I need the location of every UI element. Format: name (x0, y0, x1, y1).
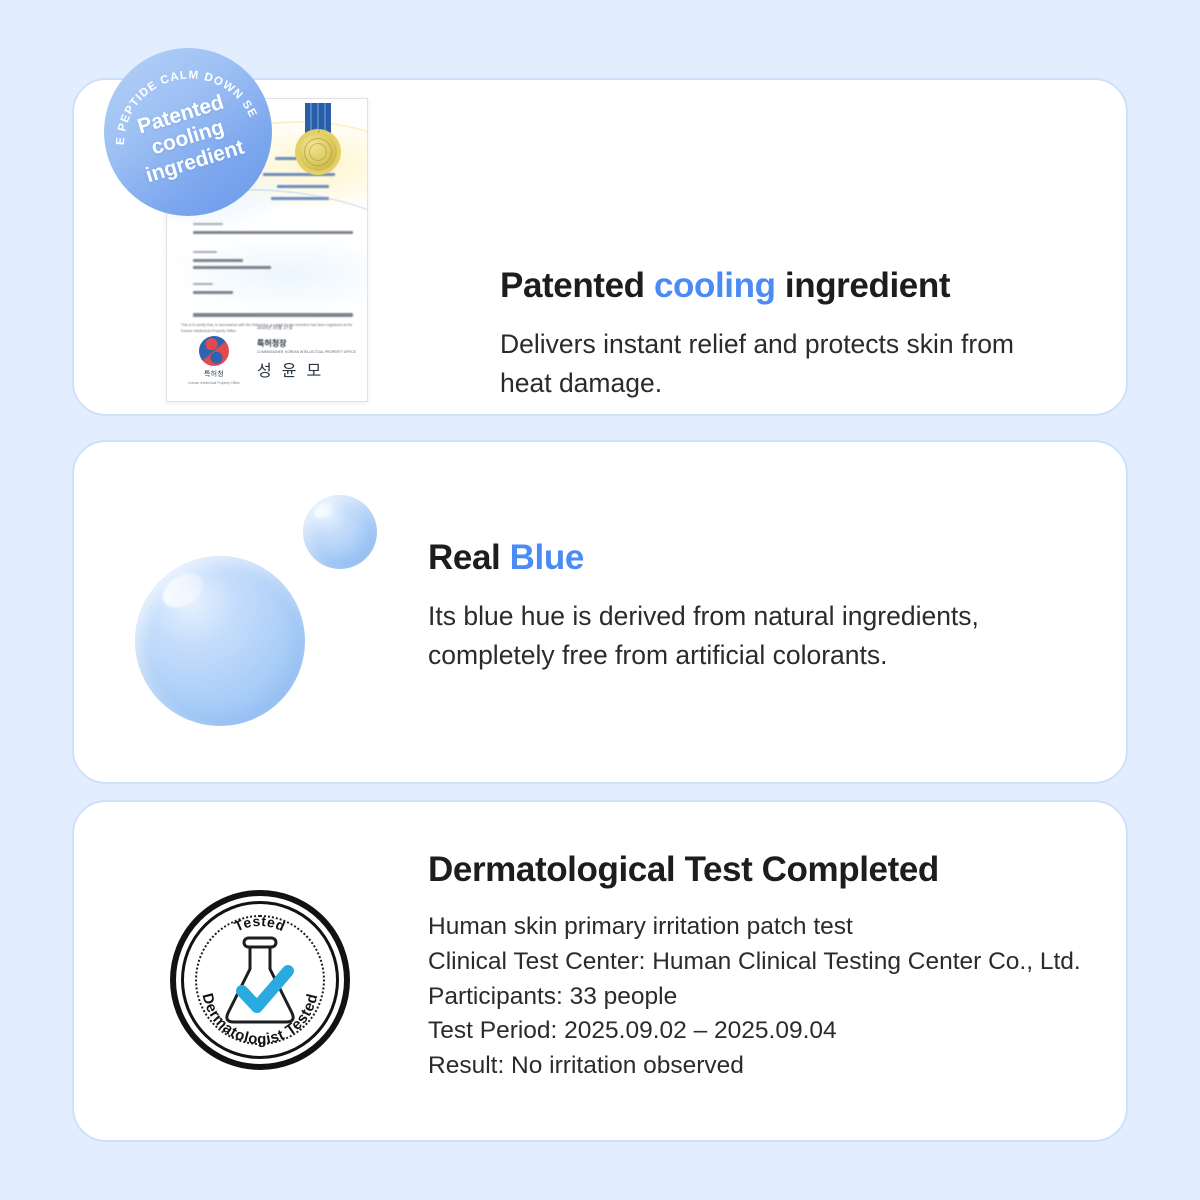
card-2-subcopy: Its blue hue is derived from natural ing… (428, 597, 1078, 675)
headline-text-before: Patented (500, 266, 654, 305)
headline-text-before: Real (428, 538, 510, 577)
test-detail-list: Human skin primary irritation patch test… (428, 910, 1081, 1084)
card-3-headline: Dermatological Test Completed (428, 850, 1081, 890)
kipo-name-ko: 특허청 (183, 369, 245, 379)
certificate-date: 2025년 10월 27일 (257, 325, 359, 331)
dermatologist-tested-stamp: Tested Dermatologist Tested (170, 890, 350, 1070)
flask-icon (218, 935, 302, 1027)
commissioner-title-ko: 특허청장 (257, 338, 359, 349)
card-3-copy: Dermatological Test Completed Human skin… (428, 850, 1081, 1084)
product-detail-page: This is to certify that, in accordance w… (0, 0, 1200, 1200)
blue-droplet-small (303, 495, 377, 569)
gold-medal-seal-icon (295, 129, 341, 175)
headline-text-highlight: cooling (654, 266, 776, 305)
card-1-subcopy: Delivers instant relief and protects ski… (500, 325, 1030, 403)
stamp-arc-top-text: Tested (232, 913, 288, 935)
headline-text-highlight: Blue (510, 538, 584, 577)
svg-text:Tested: Tested (232, 913, 288, 935)
test-detail-item: Test Period: 2025.09.02 – 2025.09.04 (428, 1014, 1081, 1049)
patented-cooling-badge: BULE PEPTIDE CALM DOWN SERUM Patented co… (104, 48, 272, 216)
taegeuk-swirl-icon (195, 331, 233, 369)
test-detail-item: Result: No irritation observed (428, 1049, 1081, 1084)
test-detail-item: Human skin primary irritation patch test (428, 910, 1081, 945)
blue-droplet-large (135, 556, 305, 726)
certificate-signature-block: 2025년 10월 27일 특허청장 COMMISSIONER, KOREAN … (257, 325, 359, 381)
test-detail-item: Participants: 33 people (428, 980, 1081, 1015)
kipo-name-en: Korean Intellectual Property Office (183, 381, 245, 385)
kipo-logo: 특허청 Korean Intellectual Property Office (183, 336, 245, 385)
card-2-copy: Real Blue Its blue hue is derived from n… (428, 538, 1078, 675)
headline-text-before: Dermatological Test Completed (428, 850, 939, 889)
card-1-headline: Patented cooling ingredient (500, 266, 1030, 306)
test-detail-item: Clinical Test Center: Human Clinical Tes… (428, 945, 1081, 980)
commissioner-title-en: COMMISSIONER, KOREAN INTELLECTUAL PROPER… (257, 350, 359, 354)
commissioner-signature: 성 윤 모 (257, 357, 359, 381)
headline-text-after: ingredient (776, 266, 951, 305)
card-2-headline: Real Blue (428, 538, 1078, 578)
card-1-copy: Patented cooling ingredient Delivers ins… (500, 266, 1030, 403)
